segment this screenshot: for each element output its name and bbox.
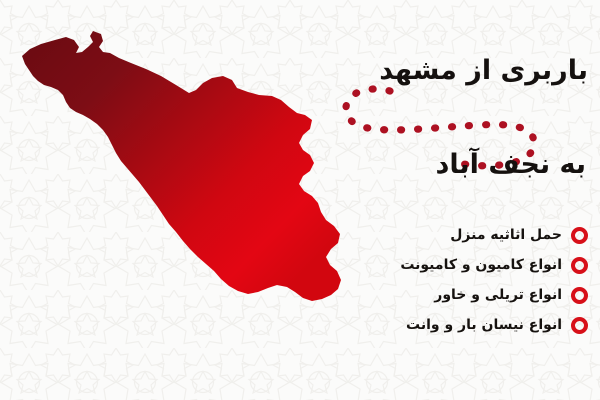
list-item: انواع کامیون و کامیونت xyxy=(400,254,588,276)
service-label: حمل اثاثیه منزل xyxy=(450,227,562,244)
list-item: انواع تریلی و خاور xyxy=(400,284,588,306)
iran-map xyxy=(0,0,360,400)
promo-banner: باربری از مشهد به نجف آباد حمل اثاثیه من… xyxy=(0,0,600,400)
iran-map-shape xyxy=(22,31,341,301)
service-list: حمل اثاثیه منزل انواع کامیون و کامیونت ا… xyxy=(400,224,588,336)
ring-bullet-icon xyxy=(571,287,588,304)
ring-bullet-icon xyxy=(571,317,588,334)
ring-bullet-icon xyxy=(571,257,588,274)
service-label: انواع نیسان بار و وانت xyxy=(406,317,562,334)
service-label: انواع کامیون و کامیونت xyxy=(400,257,562,274)
list-item: حمل اثاثیه منزل xyxy=(400,224,588,246)
service-label: انواع تریلی و خاور xyxy=(434,287,562,304)
headline-destination: به نجف آباد xyxy=(436,148,586,182)
headline-origin: باربری از مشهد xyxy=(379,54,588,88)
list-item: انواع نیسان بار و وانت xyxy=(400,314,588,336)
ring-bullet-icon xyxy=(571,227,588,244)
